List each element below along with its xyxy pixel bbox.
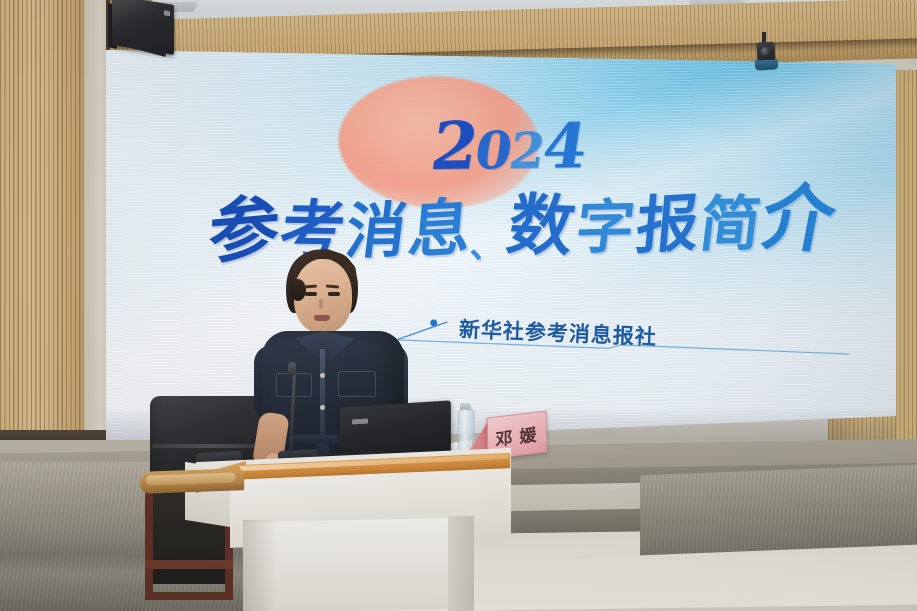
camera-lens-icon xyxy=(761,47,770,56)
eye-left xyxy=(305,292,317,296)
led-screen-vignette xyxy=(106,48,896,448)
led-screen: 2024 参考消息、数字报简介 新华社参考消息报社 xyxy=(106,48,896,448)
hair-bun xyxy=(290,279,306,301)
eye-right xyxy=(328,292,340,296)
podium-column-shadow xyxy=(243,520,277,611)
name-card-char-2: 媛 xyxy=(519,420,538,447)
podium-column-side xyxy=(448,516,474,611)
chest-pocket-right xyxy=(338,371,376,397)
name-card-char-1: 邓 xyxy=(495,423,514,450)
photo-scene: 2024 参考消息、数字报简介 新华社参考消息报社 xyxy=(0,0,917,611)
mouth xyxy=(314,315,330,321)
shirt-button-1 xyxy=(320,373,325,378)
laptop-logo-icon xyxy=(352,419,368,425)
speaker-led-icon xyxy=(164,10,170,16)
carpet-right xyxy=(640,465,917,556)
camera-base xyxy=(755,59,778,70)
microphone-head-icon xyxy=(288,362,297,376)
shirt-button-2 xyxy=(320,405,325,410)
chair-rail xyxy=(145,560,233,569)
nose xyxy=(319,299,323,309)
